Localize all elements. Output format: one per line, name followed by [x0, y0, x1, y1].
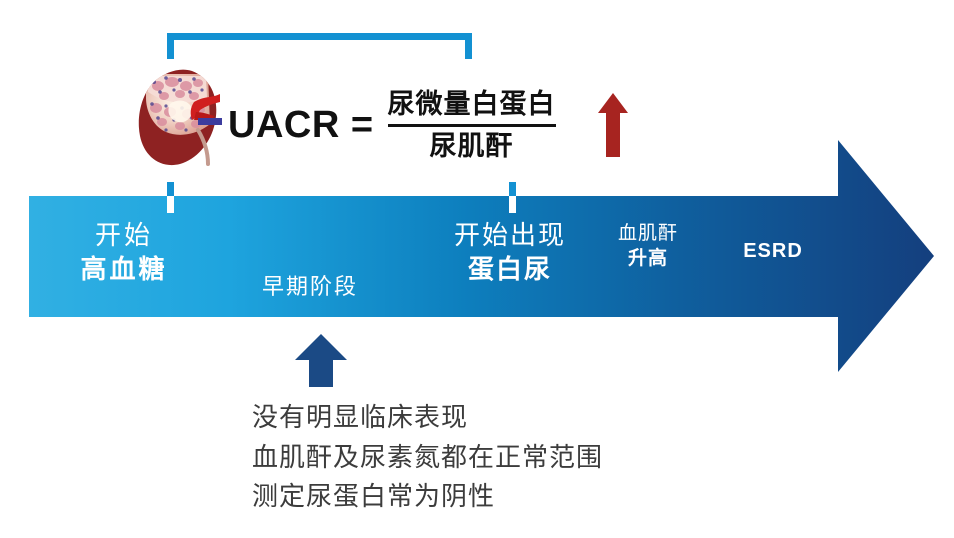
note-line: 没有明显临床表现: [252, 398, 872, 438]
stage-label-early-phase: 早期阶段: [245, 273, 375, 302]
tick-below-band: [167, 196, 174, 213]
note-line: 测定尿蛋白常为阴性: [252, 477, 872, 517]
stage-label-hyperglycemia: 开始 高血糖: [59, 219, 189, 287]
stage-label-creatinine-rise: 血肌酐 升高: [598, 222, 698, 271]
stage-line-2: 高血糖: [59, 253, 189, 287]
stage-line-1: ESRD: [723, 238, 823, 264]
stage-line-2: 升高: [598, 247, 698, 272]
diagram-canvas: UACR = 尿微量白蛋白 尿肌酐: [0, 0, 954, 538]
stage-line-1: 开始出现: [435, 219, 585, 253]
stage-line-1: 早期阶段: [245, 273, 375, 302]
stage-label-proteinuria: 开始出现 蛋白尿: [435, 219, 585, 287]
tick-above-band: [167, 182, 174, 196]
blue-up-arrow-icon: [295, 334, 347, 387]
tick-below-band: [509, 196, 516, 213]
stage-label-esrd: ESRD: [723, 238, 823, 264]
note-line: 血肌酐及尿素氮都在正常范围: [252, 438, 872, 478]
fraction-rule: [388, 124, 556, 127]
bracket-leg-right: [465, 33, 472, 59]
uacr-label: UACR =: [228, 106, 374, 144]
clinical-notes: 没有明显临床表现 血肌酐及尿素氮都在正常范围 测定尿蛋白常为阴性: [252, 398, 872, 517]
stage-line-2: 蛋白尿: [435, 253, 585, 287]
stage-line-1: 开始: [59, 219, 189, 253]
bracket-leg-left: [167, 33, 174, 59]
stage-line-1: 血肌酐: [598, 222, 698, 247]
fraction-numerator: 尿微量白蛋白: [388, 88, 556, 121]
measurement-bracket-icon: [167, 33, 472, 59]
bracket-bar: [167, 33, 472, 40]
tick-above-band: [509, 182, 516, 196]
timeline-tick-onset: [167, 182, 174, 213]
timeline-tick-proteinuria: [509, 182, 516, 213]
